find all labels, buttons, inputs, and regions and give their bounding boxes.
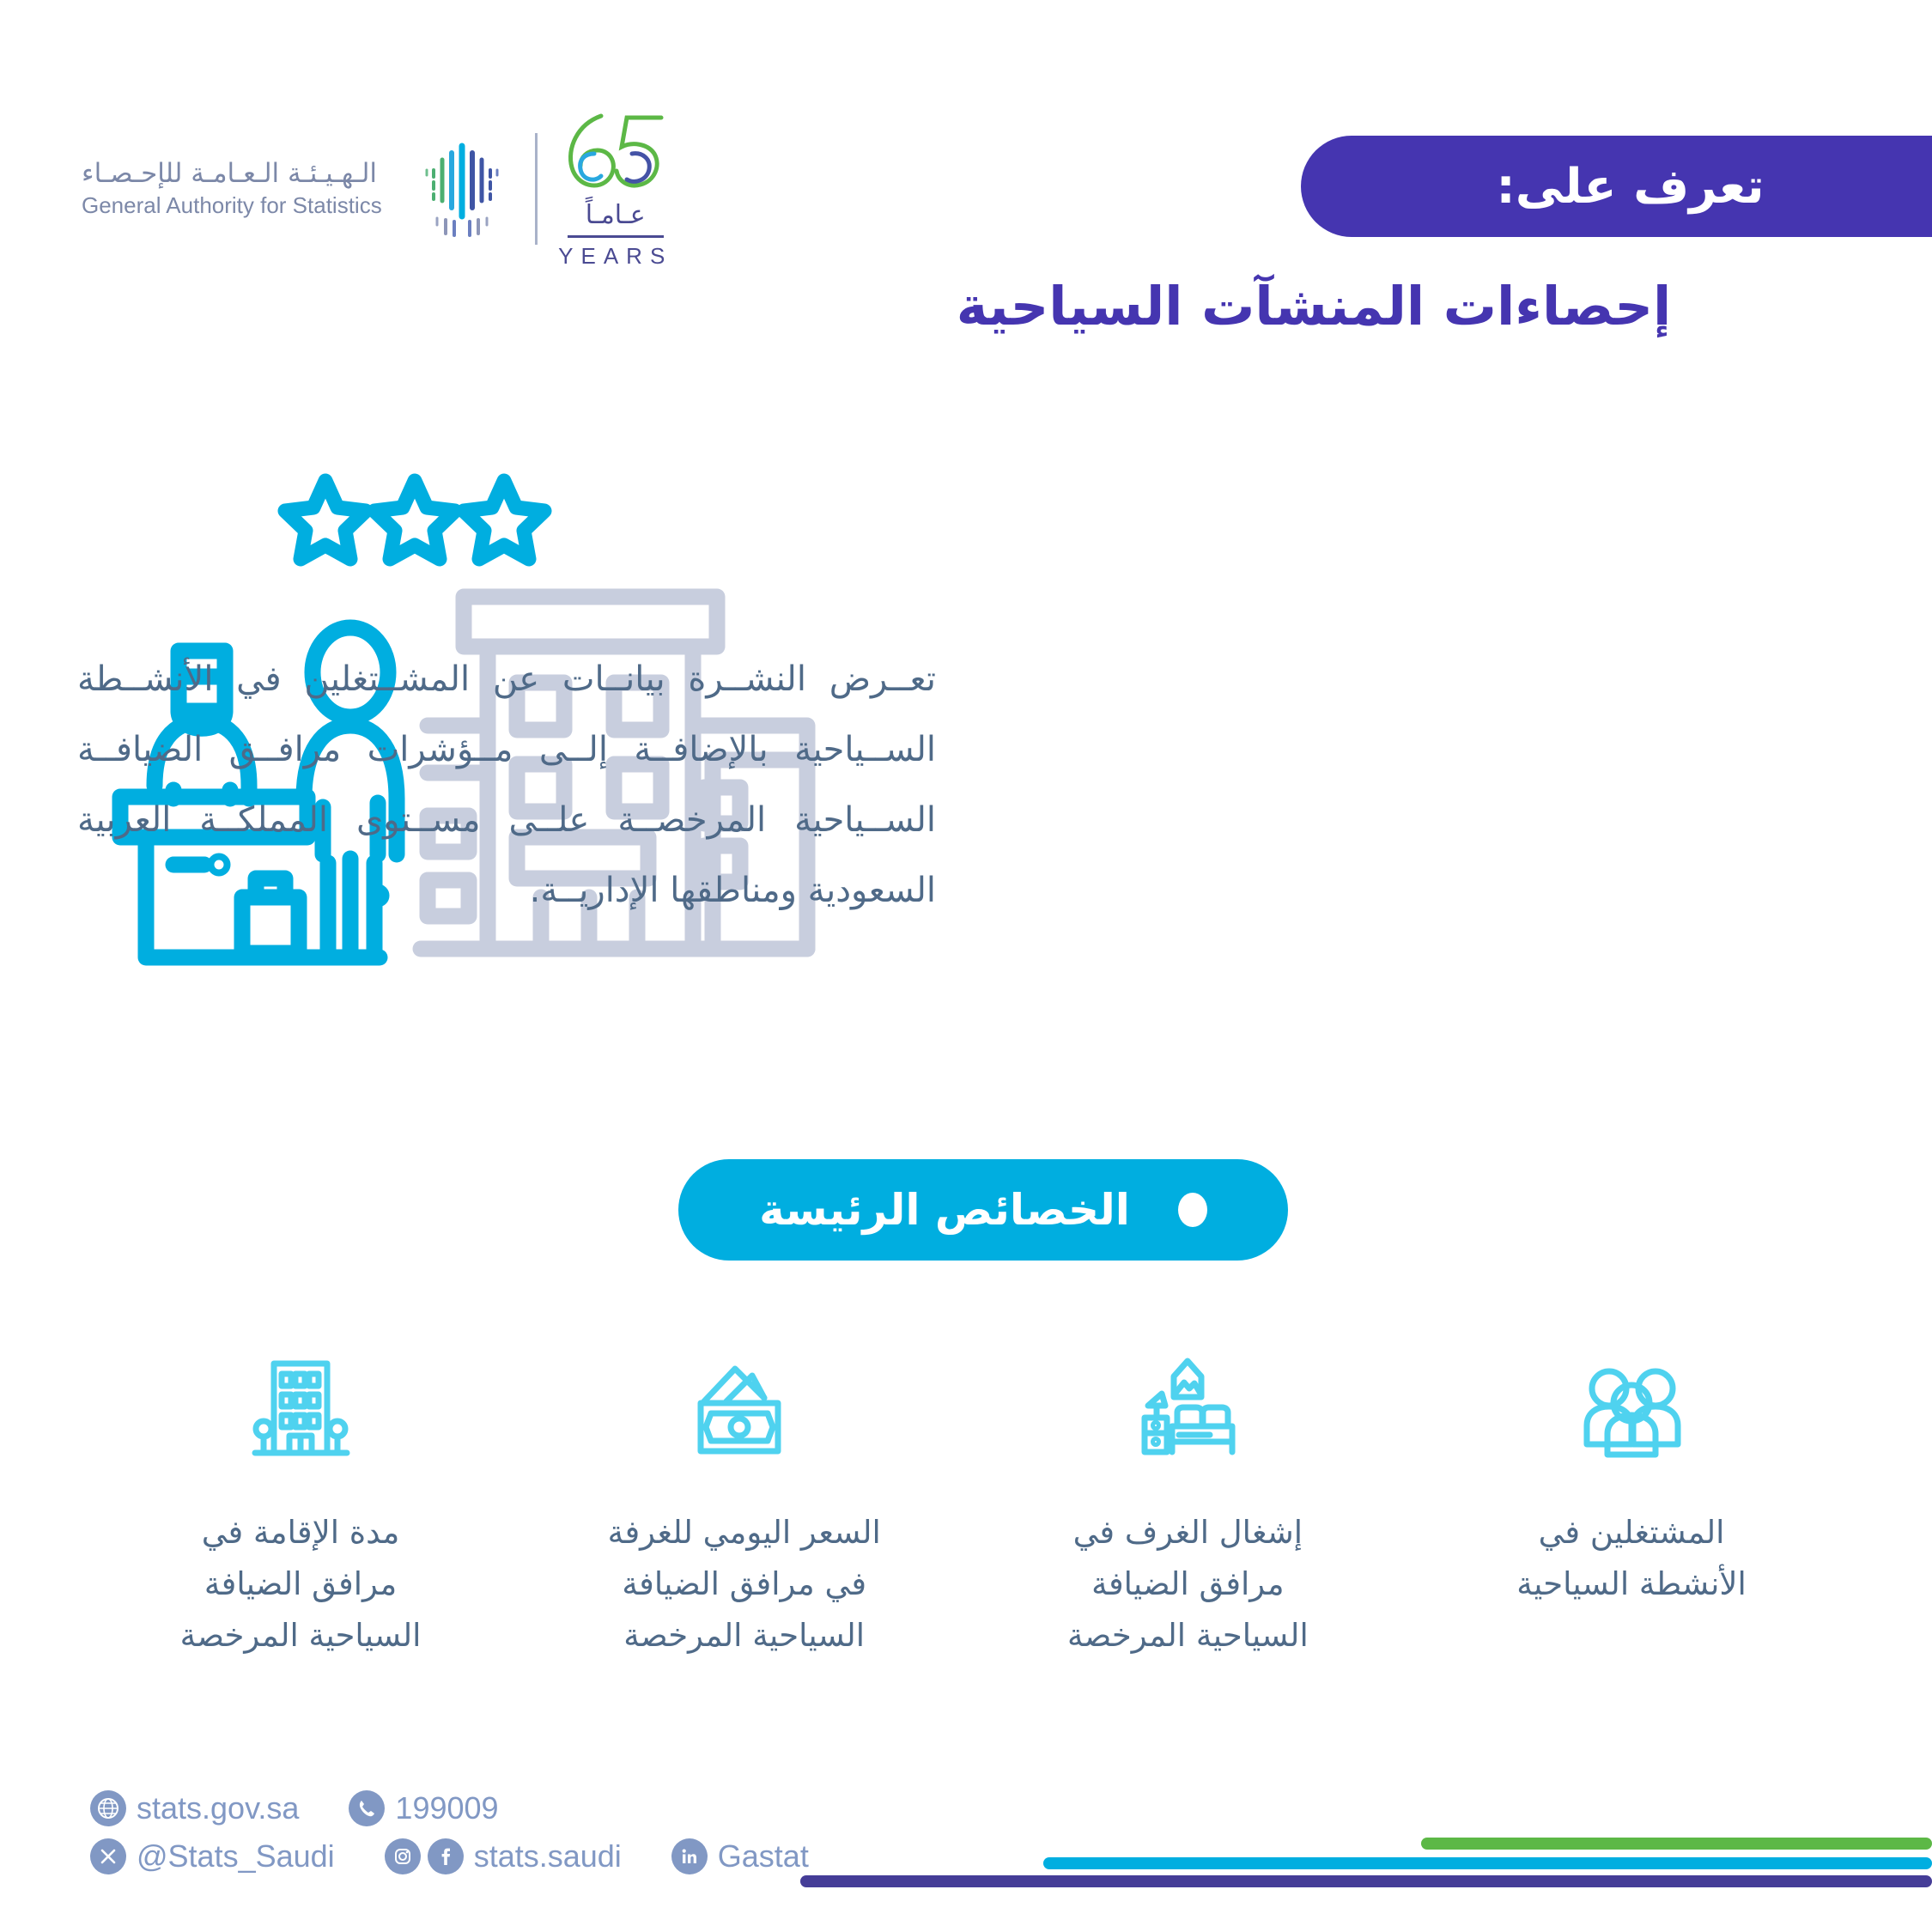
anniversary-arabic-word: عـامـاً	[586, 200, 646, 230]
footer-row-1: stats.gov.sa 199009	[90, 1790, 809, 1826]
decorative-bar-green	[1421, 1838, 1932, 1850]
footer-twitter[interactable]: @Stats_Saudi	[90, 1838, 335, 1874]
feature-item-tourism-workers: المشتغلين في الأنشطة السياحية	[1434, 1348, 1829, 1610]
feature-label: مدة الإقامة في مرافق الضيافة السياحية ال…	[159, 1507, 442, 1662]
bullet-dot-icon	[1178, 1193, 1207, 1227]
linkedin-icon	[671, 1838, 708, 1874]
anniversary-rule	[568, 235, 664, 238]
anniversary-65-mark	[560, 107, 671, 204]
decorative-bar-cyan	[1043, 1857, 1932, 1869]
feature-label: السعر اليومي للغرفة في مرافق الضيافة الس…	[603, 1507, 886, 1662]
org-name-arabic: الـهـيـئـة الـعـامـة للإحـصـاء	[82, 158, 377, 189]
logo-divider	[535, 133, 538, 245]
footer-social-handle[interactable]: stats.saudi	[385, 1838, 622, 1874]
intro-banner-label: تعرف على:	[1301, 159, 1882, 215]
footer-contact-block: stats.gov.sa 199009 @Stats_Saudi	[90, 1790, 809, 1886]
footer-twitter-text: @Stats_Saudi	[137, 1838, 335, 1874]
features-row: المشتغلين في الأنشطة السياحية	[103, 1348, 1829, 1662]
feature-item-daily-room-price: السعر اليومي للغرفة في مرافق الضيافة الس…	[547, 1348, 942, 1662]
hotel-bedroom-icon	[1136, 1348, 1239, 1460]
feature-label: المشتغلين في الأنشطة السياحية	[1490, 1507, 1773, 1610]
instagram-icon	[385, 1838, 421, 1874]
footer-website-text: stats.gov.sa	[137, 1790, 299, 1826]
gastat-logo-mark	[411, 134, 513, 244]
footer-phone-text: 199009	[395, 1790, 498, 1826]
people-group-icon	[1580, 1348, 1683, 1460]
hotel-star-icon	[285, 481, 544, 559]
page-title: إحصاءات المنشآت السياحية	[799, 275, 1829, 337]
footer-social-handle-text: stats.saudi	[474, 1838, 622, 1874]
facebook-icon	[428, 1838, 464, 1874]
banknote-money-icon	[690, 1348, 798, 1460]
footer-row-2: @Stats_Saudi	[90, 1838, 809, 1874]
x-twitter-icon	[90, 1838, 126, 1874]
feature-item-room-occupancy: إشغال الغرف في مرافق الضيافة السياحية ال…	[990, 1348, 1385, 1662]
feature-label: إشغال الغرف في مرافق الضيافة السياحية ال…	[1046, 1507, 1329, 1662]
footer-website[interactable]: stats.gov.sa	[90, 1790, 299, 1826]
globe-icon	[90, 1790, 126, 1826]
decorative-bars	[773, 1838, 1932, 1889]
intro-banner: تعرف على:	[1301, 136, 1932, 237]
features-section-label: الخصائص الرئيسة	[759, 1185, 1130, 1235]
hotel-building-icon	[252, 1348, 350, 1460]
decorative-bar-purple	[800, 1875, 1932, 1887]
footer-social-badges	[385, 1838, 464, 1874]
phone-icon	[349, 1790, 385, 1826]
gastat-wordmark: الـهـيـئـة الـعـامـة للإحـصـاء General A…	[82, 158, 382, 219]
features-section-pill: الخصائص الرئيسة	[678, 1159, 1288, 1261]
org-name-english: General Authority for Statistics	[82, 192, 382, 219]
footer-phone[interactable]: 199009	[349, 1790, 498, 1826]
infographic-page: عـامـاً YEARS	[0, 0, 1932, 1932]
anniversary-65-logo: عـامـاً YEARS	[560, 107, 671, 270]
feature-item-length-of-stay: مدة الإقامة في مرافق الضيافة السياحية ال…	[103, 1348, 498, 1662]
intro-paragraph: تعــرض النشــرة بيانــات عن المشــتغلين …	[77, 644, 936, 926]
anniversary-english-word: YEARS	[558, 243, 672, 270]
header-logo-block: عـامـاً YEARS	[82, 107, 671, 270]
